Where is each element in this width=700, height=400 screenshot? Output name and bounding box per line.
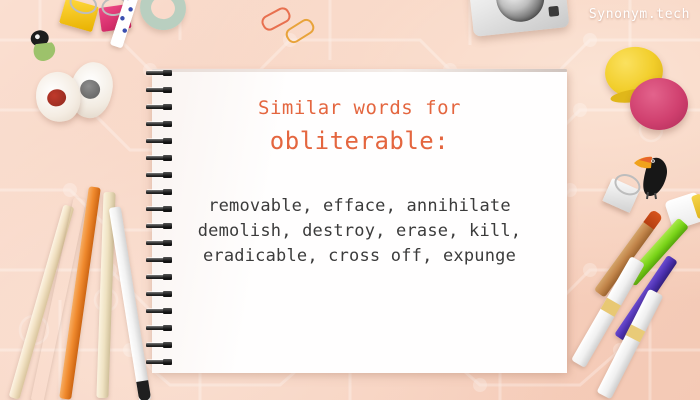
synonym-line: removable, efface, annihilate: [152, 194, 567, 219]
page-title: Similar words for: [152, 94, 567, 122]
macaron-pink: [630, 78, 688, 130]
notebook-page: Similar words for obliterable: removable…: [152, 72, 567, 373]
screenshot-canvas: Similar words for obliterable: removable…: [0, 0, 700, 400]
site-watermark: Synonym.tech: [589, 7, 690, 22]
spiral-binding: [144, 66, 178, 378]
page-content: Similar words for obliterable: removable…: [152, 94, 567, 269]
headword: obliterable:: [152, 124, 567, 158]
green-figurine: [25, 25, 70, 65]
page-top-edge: [152, 69, 567, 72]
synonym-list: removable, efface, annihilate demolish, …: [152, 194, 567, 269]
synonym-line: eradicable, cross off, expunge: [152, 244, 567, 269]
synonym-line: demolish, destroy, erase, kill,: [152, 219, 567, 244]
